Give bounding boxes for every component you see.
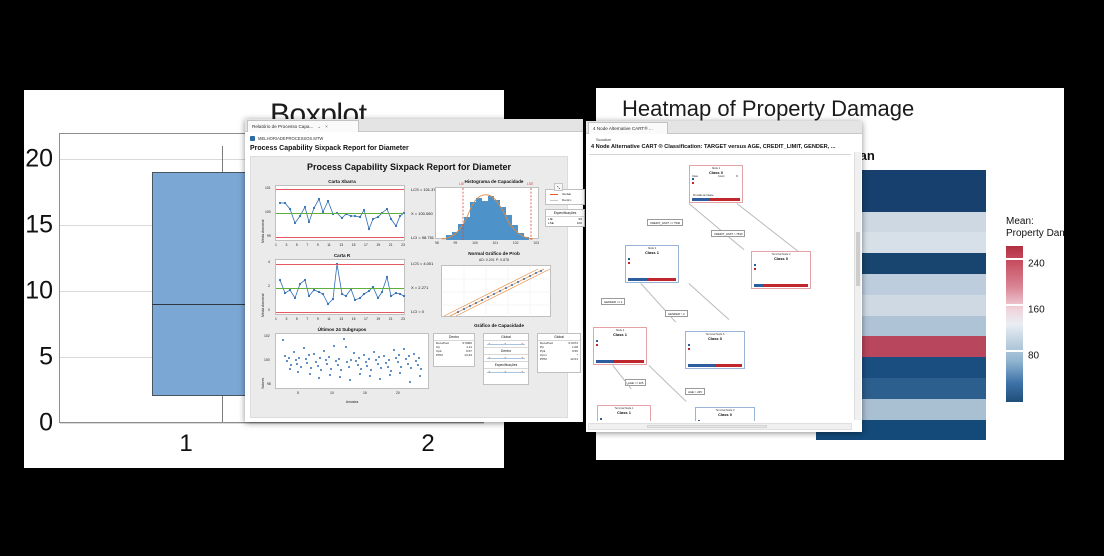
- horizontal-scrollbar[interactable]: [588, 423, 852, 430]
- node-bar-blue: [628, 278, 648, 281]
- band-title-specs: Especificações: [484, 361, 528, 369]
- xbar-lcl-line: [276, 237, 404, 238]
- r-x-axis: 1 3 5 7 9 11 13 15 17 19 21 23: [275, 317, 405, 321]
- cart-node-terminal-5[interactable]: Terminal Node 5 Class 0: [685, 331, 745, 369]
- cart-tab[interactable]: 4 Node Alternative CART® ...: [588, 122, 668, 134]
- probplot-plot-area: [441, 265, 551, 317]
- x-tick-label-1: 1: [179, 430, 192, 458]
- gridline-0: [60, 423, 484, 424]
- node-bar-blue: [754, 284, 764, 287]
- split-label: AGE > 225: [685, 388, 705, 395]
- cart-tree-canvas[interactable]: Node 1 Class 0 Class Count % Previsão de…: [589, 154, 851, 421]
- cart-node-terminal-3[interactable]: Terminal Node 3 Class 0: [751, 251, 811, 289]
- vertical-scrollbar[interactable]: [854, 152, 861, 420]
- xbar-ucl-label: LCS = 101.370: [411, 187, 438, 192]
- overall-stats-table: Global DesvPad0.6473 Pp1.08 Ppk0.56 Cpm*…: [537, 333, 581, 373]
- legend-title-line2: Property Dam...: [1006, 228, 1062, 240]
- node-bar-red: [715, 364, 742, 367]
- r-xtick: 15: [352, 317, 356, 321]
- node-class: Class 0: [690, 170, 742, 175]
- node-bar-blue: [688, 364, 715, 367]
- spec-value: 100: [577, 221, 582, 225]
- sg-xtick-5: 5: [297, 391, 299, 395]
- class-swatch-red: [692, 182, 694, 184]
- r-xtick: 21: [389, 317, 393, 321]
- xbar-xtick: 23: [401, 243, 405, 247]
- xbar-y-axis-title: Média Amostral: [261, 220, 265, 243]
- cart-node-terminal-2[interactable]: Terminal Node 2 Class 0: [695, 407, 755, 421]
- split-label: GENDER <= 2: [601, 298, 625, 305]
- histogram-legend: Global Dentro: [545, 189, 585, 205]
- y-tick-20: 20: [25, 144, 53, 173]
- xbar-plot-area: [275, 185, 405, 241]
- spec-label: LSE: [548, 221, 554, 225]
- r-center-label: X = 2.271: [411, 285, 428, 290]
- node-stat-header: Count: [718, 175, 724, 178]
- legend-colorbar: [1006, 246, 1023, 402]
- spec-table: Especificações LIE 99 LSE 100: [545, 209, 585, 227]
- minitab-tab-label: Relatório de Processo Capa...: [252, 124, 313, 129]
- cart-node-2[interactable]: Node 2 Class 1: [625, 245, 679, 283]
- r-y-axis-title: Média Amostral: [261, 294, 265, 317]
- stat-value: 12.01: [570, 357, 578, 361]
- heatmap-legend: Mean: Property Dam... 240 160 80: [1006, 216, 1062, 402]
- r-lcl-line: [276, 312, 404, 313]
- legend-entry-within: Dentro: [546, 196, 584, 202]
- band-within: +++: [484, 355, 528, 361]
- split-label: GENDER > 2: [665, 310, 688, 317]
- subgroups-caption: Últimos 24 Subgrupos: [267, 327, 417, 332]
- xbar-xtick: 1: [275, 243, 277, 247]
- worksheet-name: MELHORIADEPROCESSOS.MTW: [258, 136, 323, 141]
- legend-notch: [1006, 258, 1023, 260]
- sg-ytick-102: 102: [264, 334, 270, 338]
- node-stats: [628, 255, 676, 264]
- capability-bands: Global +++ Dentro +++ Especificações +++: [483, 333, 529, 385]
- sg-xtick-15: 15: [363, 391, 367, 395]
- legend-notch: [1006, 304, 1023, 306]
- hist-xtick: 101: [492, 241, 498, 245]
- stat-value: 13.43: [464, 353, 472, 357]
- node-bar-red: [648, 278, 676, 281]
- cart-window[interactable]: 4 Node Alternative CART® ... Scoobar 4 N…: [586, 121, 862, 432]
- split-label: CREDIT_LIMIT > 7540: [711, 230, 745, 237]
- r-lcl-label: LCI = 0: [411, 309, 424, 314]
- node-bar-red: [614, 360, 644, 363]
- sg-xtick-10: 10: [330, 391, 334, 395]
- node-bar-red: [709, 198, 740, 201]
- close-icon[interactable]: ×: [325, 124, 328, 129]
- xbar-xtick: 5: [296, 243, 298, 247]
- xbar-ucl-line: [276, 189, 404, 190]
- hist-xtick: 103: [533, 241, 539, 245]
- within-stats-table: Dentro DesvPad0.5966 Cp1.11 Cpk0.57 PPM1…: [433, 333, 475, 367]
- band-title-global: Global: [484, 334, 528, 341]
- r-xtick: 3: [285, 317, 287, 321]
- class-swatch-red: [596, 344, 598, 346]
- class-swatch-blue: [754, 264, 756, 266]
- minitab-tabbar: Relatório de Processo Capa... ⌄ ×: [245, 119, 583, 132]
- class-swatch-blue: [628, 258, 630, 260]
- node-bar-red: [764, 284, 808, 287]
- whisker-lower: [222, 396, 223, 422]
- node-class: Class 0: [696, 412, 754, 417]
- subgroups-scatter: [276, 334, 430, 390]
- node-class: Class 1: [626, 250, 678, 255]
- cart-subtitle: Scoobar: [596, 137, 611, 142]
- hist-xtick: 99: [454, 241, 458, 245]
- r-xtick: 11: [327, 317, 331, 321]
- class-swatch-red: [754, 268, 756, 270]
- report-canvas: Process Capability Sixpack Report for Di…: [250, 156, 568, 418]
- xbar-ytick-101: 101: [265, 186, 271, 190]
- x-tick-label-2: 2: [421, 430, 434, 458]
- chevron-down-icon[interactable]: ⌄: [317, 124, 321, 130]
- y-tick-5: 5: [39, 342, 53, 371]
- r-ytick-2: 2: [268, 284, 270, 288]
- class-swatch-blue: [688, 344, 690, 346]
- command-title: Process Capability Sixpack Report for Di…: [250, 145, 409, 152]
- cart-title: 4 Node Alternative CART ® Classification…: [591, 144, 836, 150]
- r-ytick-4: 4: [268, 260, 270, 264]
- stat-label: PPM: [540, 357, 547, 361]
- node-class-bar: [596, 360, 644, 363]
- capability-caption: Gráfico de Capacidade: [429, 323, 569, 328]
- probplot-series: [442, 266, 552, 318]
- class-swatch-blue: [698, 420, 700, 421]
- xbar-x-axis: 1 3 5 7 9 11 13 15 17 19 21 23: [275, 243, 405, 247]
- xbar-series: [276, 186, 406, 242]
- minitab-window[interactable]: Relatório de Processo Capa... ⌄ × MELHOR…: [245, 119, 583, 422]
- histogram-plot-area: [435, 187, 539, 239]
- xbar-xtick: 21: [389, 243, 393, 247]
- cart-node-terminal-1[interactable]: Terminal Node 1 Class 1: [597, 405, 651, 421]
- r-xtick: 13: [339, 317, 343, 321]
- class-swatch-blue: [600, 418, 602, 420]
- within-row: PPM13.43: [434, 353, 474, 357]
- presentation-canvas: Boxplot 0 5 10 15 20 1 2 Heatmap of Prop…: [0, 0, 1104, 556]
- xbar-center-line: [276, 213, 404, 214]
- within-stats-title: Dentro: [434, 334, 474, 341]
- class-swatch-blue: [692, 178, 694, 180]
- node-stats: [754, 261, 808, 270]
- legend-tick-160: 160: [1028, 305, 1045, 316]
- legend-swatch-within: [550, 200, 558, 201]
- legend-swatch-global: [550, 194, 558, 195]
- class-swatch-red: [688, 348, 690, 350]
- xbar-xtick: 11: [327, 243, 331, 247]
- sg-ytick-98: 98: [267, 382, 271, 386]
- node-class: Class 0: [752, 256, 810, 261]
- r-xtick: 7: [306, 317, 308, 321]
- cart-tab-label: 4 Node Alternative CART® ...: [593, 126, 653, 131]
- xbar-ytick-100: 100: [265, 210, 271, 214]
- subgroups-plot-area: [275, 333, 429, 389]
- xbar-center-label: X = 100.060: [411, 211, 433, 216]
- worksheet-icon: [250, 136, 255, 141]
- report-title: Process Capability Sixpack Report for Di…: [251, 162, 567, 172]
- overall-row: PPM12.01: [538, 357, 580, 361]
- r-xtick: 5: [296, 317, 298, 321]
- band-title-within: Dentro: [484, 347, 528, 355]
- y-tick-0: 0: [39, 408, 53, 437]
- tree-edge: [613, 365, 632, 389]
- node-stats: [600, 415, 648, 421]
- band-specs: +++: [484, 369, 528, 375]
- sg-xtick-20: 20: [396, 391, 400, 395]
- probplot-caption: Normal Gráfico de Prob: [429, 251, 559, 256]
- r-xtick: 23: [401, 317, 405, 321]
- legend-tick-80: 80: [1028, 351, 1039, 362]
- node-class-bar: [754, 284, 808, 287]
- legend-label-global: Global: [562, 192, 571, 196]
- r-xtick: 17: [364, 317, 368, 321]
- minitab-tab[interactable]: Relatório de Processo Capa... ⌄ ×: [247, 120, 359, 132]
- xbar-ytick-99: 99: [267, 234, 271, 238]
- tree-edge: [689, 203, 745, 250]
- r-center-line: [276, 288, 404, 289]
- node-class-bar: [628, 278, 676, 281]
- node-bar-label: Previsão de Classe: [693, 194, 714, 197]
- y-tick-15: 15: [25, 210, 53, 239]
- node-class-bar: [688, 364, 742, 367]
- xbar-xtick: 15: [352, 243, 356, 247]
- scrollbar-thumb[interactable]: [856, 232, 860, 286]
- class-swatch-blue: [596, 340, 598, 342]
- xbar-chart-caption: Carta Xbarra: [267, 179, 417, 184]
- subgroups-x-axis-title: Amostra: [275, 400, 429, 404]
- xbar-xtick: 19: [376, 243, 380, 247]
- node-stat-header: %: [736, 175, 738, 178]
- node-class-bar: [692, 198, 740, 201]
- legend-notch: [1006, 350, 1023, 352]
- node-class: Class 1: [594, 332, 646, 337]
- hist-lie-marker: LIE: [459, 182, 464, 186]
- cart-node-root[interactable]: Node 1 Class 0 Class Count % Previsão de…: [689, 165, 743, 203]
- r-ucl-line: [276, 264, 404, 265]
- spec-row-lse: LSE 100: [546, 221, 584, 225]
- node-stats: [698, 417, 752, 421]
- split-label: CREDIT_LIMIT <= 7540: [647, 219, 683, 226]
- histogram-x-axis: 98 99 100 101 102 103: [435, 241, 539, 245]
- r-chart-caption: Carta R: [267, 253, 417, 258]
- band-global: +++: [484, 341, 528, 347]
- expand-icon[interactable]: ⤡: [554, 183, 563, 191]
- r-ytick-0: 0: [268, 308, 270, 312]
- hist-xtick: 98: [435, 241, 439, 245]
- node-bar-blue: [596, 360, 614, 363]
- xbar-xtick: 3: [285, 243, 287, 247]
- node-bar-blue: [692, 198, 709, 201]
- legend-tick-240: 240: [1028, 259, 1045, 270]
- cart-tabbar: 4 Node Alternative CART® ...: [586, 121, 862, 134]
- tree-edge: [689, 283, 730, 320]
- class-swatch-red: [628, 262, 630, 264]
- page-title: Heatmap of Property Damage: [622, 96, 914, 122]
- node-stats: Class Count %: [692, 175, 740, 184]
- r-xtick: 1: [275, 317, 277, 321]
- node-stats: [596, 337, 644, 346]
- probplot-subcaption: AD: 0.201 P: 0.878: [429, 258, 559, 262]
- legend-title-line1: Mean:: [1006, 216, 1062, 228]
- tree-edge: [737, 203, 799, 251]
- histogram-bars: [436, 188, 540, 240]
- hist-xtick: 100: [472, 241, 478, 245]
- r-xtick: 19: [376, 317, 380, 321]
- minitab-body: MELHORIADEPROCESSOS.MTW Process Capabili…: [245, 132, 583, 422]
- r-plot-area: [275, 259, 405, 315]
- r-xtick: 9: [317, 317, 319, 321]
- cart-body: Scoobar 4 Node Alternative CART ® Classi…: [586, 134, 862, 432]
- legend-colorbar-wrap: 240 160 80: [1006, 246, 1062, 402]
- worksheet-row[interactable]: MELHORIADEPROCESSOS.MTW: [250, 136, 323, 141]
- xbar-xtick: 17: [364, 243, 368, 247]
- xbar-lcl-label: LCI = 98.751: [411, 235, 434, 240]
- overall-stats-title: Global: [538, 334, 580, 341]
- tree-edge: [649, 365, 687, 402]
- xbar-xtick: 9: [317, 243, 319, 247]
- cart-node-4[interactable]: Node 4 Class 1: [593, 327, 647, 365]
- histogram-caption: Histograma de Capacidade: [429, 179, 559, 184]
- node-class: Class 1: [598, 410, 650, 415]
- legend-label-within: Dentro: [562, 198, 571, 202]
- xbar-xtick: 13: [339, 243, 343, 247]
- spec-table-title: Especificações: [546, 210, 584, 217]
- sg-ytick-100: 100: [264, 358, 270, 362]
- subgroups-y-axis-title: Valores: [261, 378, 265, 389]
- scrollbar-thumb[interactable]: [647, 425, 768, 428]
- node-stats: [688, 341, 742, 350]
- xbar-xtick: 7: [306, 243, 308, 247]
- hist-lse-marker: LSE: [527, 182, 533, 186]
- node-class: Class 0: [686, 336, 744, 341]
- hist-xtick: 102: [513, 241, 519, 245]
- stat-label: PPM: [436, 353, 443, 357]
- y-tick-10: 10: [25, 276, 53, 305]
